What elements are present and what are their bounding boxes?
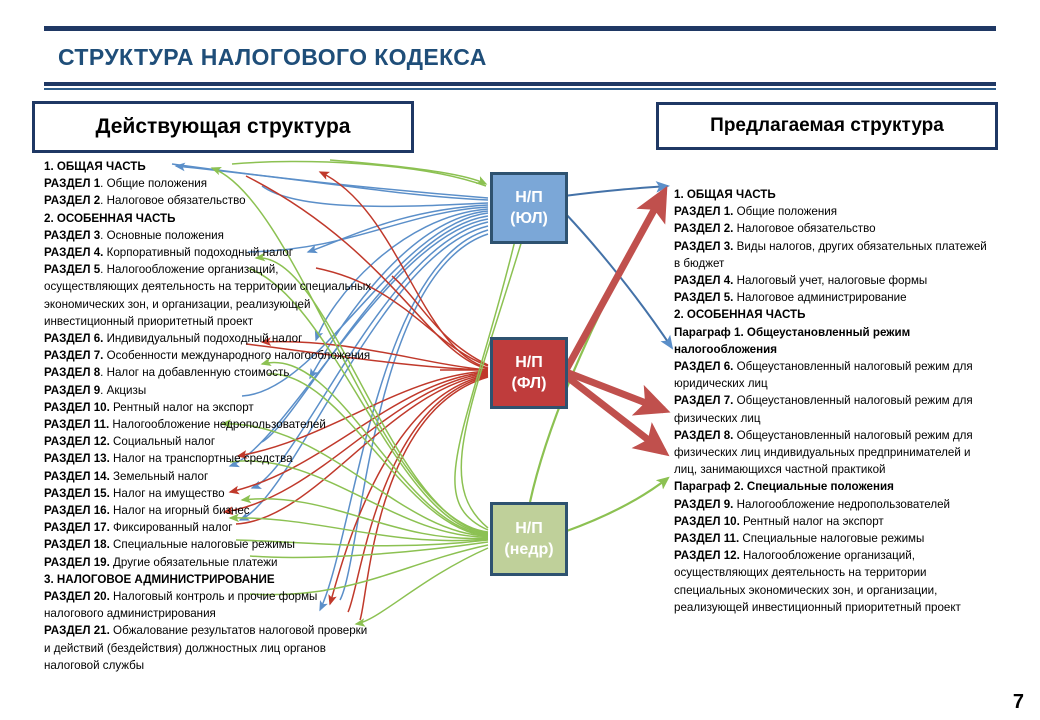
list-item-label: РАЗДЕЛ 4.	[44, 246, 103, 259]
list-item: Параграф 1. Общеустановленный режим нало…	[674, 324, 996, 358]
list-item: РАЗДЕЛ 8. Налог на добавленную стоимость	[44, 364, 374, 381]
page-number: 7	[1013, 691, 1024, 714]
list-item: 2. ОСОБЕННАЯ ЧАСТЬ	[674, 306, 996, 323]
header-rule-mid-upper	[44, 82, 996, 86]
right-column-header: Предлагаемая структура	[656, 102, 998, 150]
list-item-label: РАЗДЕЛ 2	[44, 194, 100, 207]
slide-root: СТРУКТУРА НАЛОГОВОГО КОДЕКСА Действующая…	[0, 0, 1040, 720]
list-item-label: РАЗДЕЛ 19.	[44, 556, 110, 569]
list-item-text: Налог на транспортные средства	[110, 452, 293, 465]
current-structure-list: 1. ОБЩАЯ ЧАСТЬРАЗДЕЛ 1. Общие положенияР…	[44, 158, 374, 674]
list-item: РАЗДЕЛ 19. Другие обязательные платежи	[44, 554, 374, 571]
list-item: РАЗДЕЛ 10. Рентный налог на экспорт	[674, 513, 996, 530]
list-item-label: РАЗДЕЛ 17.	[44, 521, 110, 534]
proposed-structure-list: 1. ОБЩАЯ ЧАСТЬРАЗДЕЛ 1. Общие положенияР…	[674, 186, 996, 616]
list-item-text: Корпоративный подоходный налог	[103, 246, 293, 259]
list-item-label: РАЗДЕЛ 6.	[44, 332, 103, 345]
list-item-text: Общие положения	[733, 205, 837, 218]
list-item: 3. НАЛОГОВОЕ АДМИНИСТРИРОВАНИЕ	[44, 571, 374, 588]
header-rule-top	[44, 26, 996, 31]
list-item: РАЗДЕЛ 12. Социальный налог	[44, 433, 374, 450]
list-item-label: РАЗДЕЛ 12.	[44, 435, 110, 448]
node-subsoil-users[interactable]: Н/П (недр)	[490, 502, 568, 576]
list-item-text: Земельный налог	[110, 470, 208, 483]
list-item: РАЗДЕЛ 13. Налог на транспортные средств…	[44, 450, 374, 467]
list-item: РАЗДЕЛ 1. Общие положения	[44, 175, 374, 192]
list-item-label: РАЗДЕЛ 8.	[674, 429, 733, 442]
list-item: РАЗДЕЛ 2. Налоговое обязательство	[44, 192, 374, 209]
list-item: РАЗДЕЛ 9. Налогообложение недропользоват…	[674, 496, 996, 513]
list-item: РАЗДЕЛ 4. Налоговый учет, налоговые форм…	[674, 272, 996, 289]
list-item: РАЗДЕЛ 10. Рентный налог на экспорт	[44, 399, 374, 416]
list-item: РАЗДЕЛ 21. Обжалование результатов налог…	[44, 622, 374, 674]
list-item-label: РАЗДЕЛ 12.	[674, 549, 740, 562]
list-item-label: РАЗДЕЛ 8	[44, 366, 100, 379]
list-item-text: Налоговый учет, налоговые формы	[733, 274, 927, 287]
list-item-label: РАЗДЕЛ 5.	[674, 291, 733, 304]
list-item: Параграф 2. Специальные положения	[674, 478, 996, 495]
node-ned-line2: (недр)	[504, 539, 553, 560]
list-item-label: РАЗДЕЛ 1.	[674, 205, 733, 218]
list-item-label: 2. ОСОБЕННАЯ ЧАСТЬ	[674, 308, 805, 321]
list-item-label: РАЗДЕЛ 2.	[674, 222, 733, 235]
list-item: РАЗДЕЛ 7. Особенности международного нал…	[44, 347, 374, 364]
list-item: РАЗДЕЛ 12. Налогообложение организаций, …	[674, 547, 996, 616]
list-item-label: РАЗДЕЛ 4.	[674, 274, 733, 287]
list-item-text: Рентный налог на экспорт	[110, 401, 254, 414]
list-item: РАЗДЕЛ 20. Налоговый контроль и прочие ф…	[44, 588, 374, 622]
list-item-text: Налог на игорный бизнес	[110, 504, 250, 517]
list-item-text: . Налог на добавленную стоимость	[100, 366, 289, 379]
list-item-text: Рентный налог на экспорт	[740, 515, 884, 528]
list-item: 2. ОСОБЕННАЯ ЧАСТЬ	[44, 210, 374, 227]
list-item: РАЗДЕЛ 17. Фиксированный налог	[44, 519, 374, 536]
list-item-label: РАЗДЕЛ 9	[44, 384, 100, 397]
list-item: РАЗДЕЛ 18. Специальные налоговые режимы	[44, 536, 374, 553]
list-item-label: РАЗДЕЛ 6.	[674, 360, 733, 373]
list-item: РАЗДЕЛ 2. Налоговое обязательство	[674, 220, 996, 237]
list-item: 1. ОБЩАЯ ЧАСТЬ	[674, 186, 996, 203]
list-item-label: РАЗДЕЛ 15.	[44, 487, 110, 500]
list-item: РАЗДЕЛ 6. Индивидуальный подоходный нало…	[44, 330, 374, 347]
list-item-label: РАЗДЕЛ 10.	[44, 401, 110, 414]
node-legal-entities[interactable]: Н/П (ЮЛ)	[490, 172, 568, 244]
list-item-label: 3. НАЛОГОВОЕ АДМИНИСТРИРОВАНИЕ	[44, 573, 275, 586]
list-item: 1. ОБЩАЯ ЧАСТЬ	[44, 158, 374, 175]
list-item-text: Особенности международного налогообложен…	[103, 349, 370, 362]
list-item-text: . Общие положения	[100, 177, 207, 190]
list-item: РАЗДЕЛ 11. Специальные налоговые режимы	[674, 530, 996, 547]
list-item-text: Фиксированный налог	[110, 521, 233, 534]
node-fl-line1: Н/П	[515, 352, 543, 373]
list-item-label: РАЗДЕЛ 10.	[674, 515, 740, 528]
page-title: СТРУКТУРА НАЛОГОВОГО КОДЕКСА	[58, 44, 487, 71]
list-item: РАЗДЕЛ 15. Налог на имущество	[44, 485, 374, 502]
list-item: РАЗДЕЛ 1. Общие положения	[674, 203, 996, 220]
node-ned-line1: Н/П	[515, 518, 543, 539]
node-ul-line1: Н/П	[515, 187, 543, 208]
list-item-label: РАЗДЕЛ 1	[44, 177, 100, 190]
list-item-text: . Налоговое обязательство	[100, 194, 245, 207]
list-item: РАЗДЕЛ 7. Общеустановленный налоговый ре…	[674, 392, 996, 426]
list-item-text: Налогообложение недропользователей	[733, 498, 950, 511]
list-item-text: Специальные налоговые режимы	[110, 538, 295, 551]
list-item-label: РАЗДЕЛ 9.	[674, 498, 733, 511]
list-item-text: Индивидуальный подоходный налог	[103, 332, 302, 345]
list-item-label: РАЗДЕЛ 13.	[44, 452, 110, 465]
list-item-label: Параграф 1. Общеустановленный режим нало…	[674, 326, 910, 356]
list-item: РАЗДЕЛ 3. Виды налогов, других обязатель…	[674, 238, 996, 272]
list-item-label: РАЗДЕЛ 11.	[674, 532, 739, 545]
list-item-label: 1. ОБЩАЯ ЧАСТЬ	[44, 160, 146, 173]
list-item: РАЗДЕЛ 9. Акцизы	[44, 382, 374, 399]
list-item: РАЗДЕЛ 8. Общеустановленный налоговый ре…	[674, 427, 996, 479]
list-item-label: РАЗДЕЛ 7.	[674, 394, 733, 407]
list-item-text: Специальные налоговые режимы	[739, 532, 924, 545]
list-item-text: Другие обязательные платежи	[110, 556, 278, 569]
node-ul-line2: (ЮЛ)	[510, 208, 548, 229]
list-item-label: 2. ОСОБЕННАЯ ЧАСТЬ	[44, 212, 175, 225]
list-item-label: РАЗДЕЛ 11.	[44, 418, 109, 431]
list-item: РАЗДЕЛ 5. Налоговое администрирование	[674, 289, 996, 306]
list-item: РАЗДЕЛ 4. Корпоративный подоходный налог	[44, 244, 374, 261]
list-item-label: РАЗДЕЛ 14.	[44, 470, 110, 483]
left-column-header: Действующая структура	[32, 101, 414, 153]
list-item-text: Налоговое администрирование	[733, 291, 906, 304]
list-item-text: . Акцизы	[100, 384, 146, 397]
node-individuals[interactable]: Н/П (ФЛ)	[490, 337, 568, 409]
list-item-label: РАЗДЕЛ 5	[44, 263, 100, 276]
list-item: РАЗДЕЛ 5. Налогообложение организаций, о…	[44, 261, 374, 330]
list-item: РАЗДЕЛ 16. Налог на игорный бизнес	[44, 502, 374, 519]
list-item: РАЗДЕЛ 6. Общеустановленный налоговый ре…	[674, 358, 996, 392]
list-item-label: РАЗДЕЛ 18.	[44, 538, 110, 551]
header-rule-mid-lower	[44, 88, 996, 90]
list-item-text: Социальный налог	[110, 435, 215, 448]
list-item-label: РАЗДЕЛ 16.	[44, 504, 110, 517]
list-item-label: 1. ОБЩАЯ ЧАСТЬ	[674, 188, 776, 201]
list-item-text: Налог на имущество	[110, 487, 225, 500]
list-item-label: РАЗДЕЛ 21.	[44, 624, 110, 637]
list-item-label: РАЗДЕЛ 20.	[44, 590, 110, 603]
list-item-text: Налоговое обязательство	[733, 222, 875, 235]
list-item: РАЗДЕЛ 3. Основные положения	[44, 227, 374, 244]
list-item-label: Параграф 2. Специальные положения	[674, 480, 894, 493]
list-item-text: Налогообложение недропользователей	[109, 418, 326, 431]
list-item: РАЗДЕЛ 11. Налогообложение недропользова…	[44, 416, 374, 433]
list-item-label: РАЗДЕЛ 3	[44, 229, 100, 242]
list-item-label: РАЗДЕЛ 3.	[674, 240, 733, 253]
node-fl-line2: (ФЛ)	[512, 373, 547, 394]
list-item-label: РАЗДЕЛ 7.	[44, 349, 103, 362]
list-item-text: . Основные положения	[100, 229, 224, 242]
list-item: РАЗДЕЛ 14. Земельный налог	[44, 468, 374, 485]
